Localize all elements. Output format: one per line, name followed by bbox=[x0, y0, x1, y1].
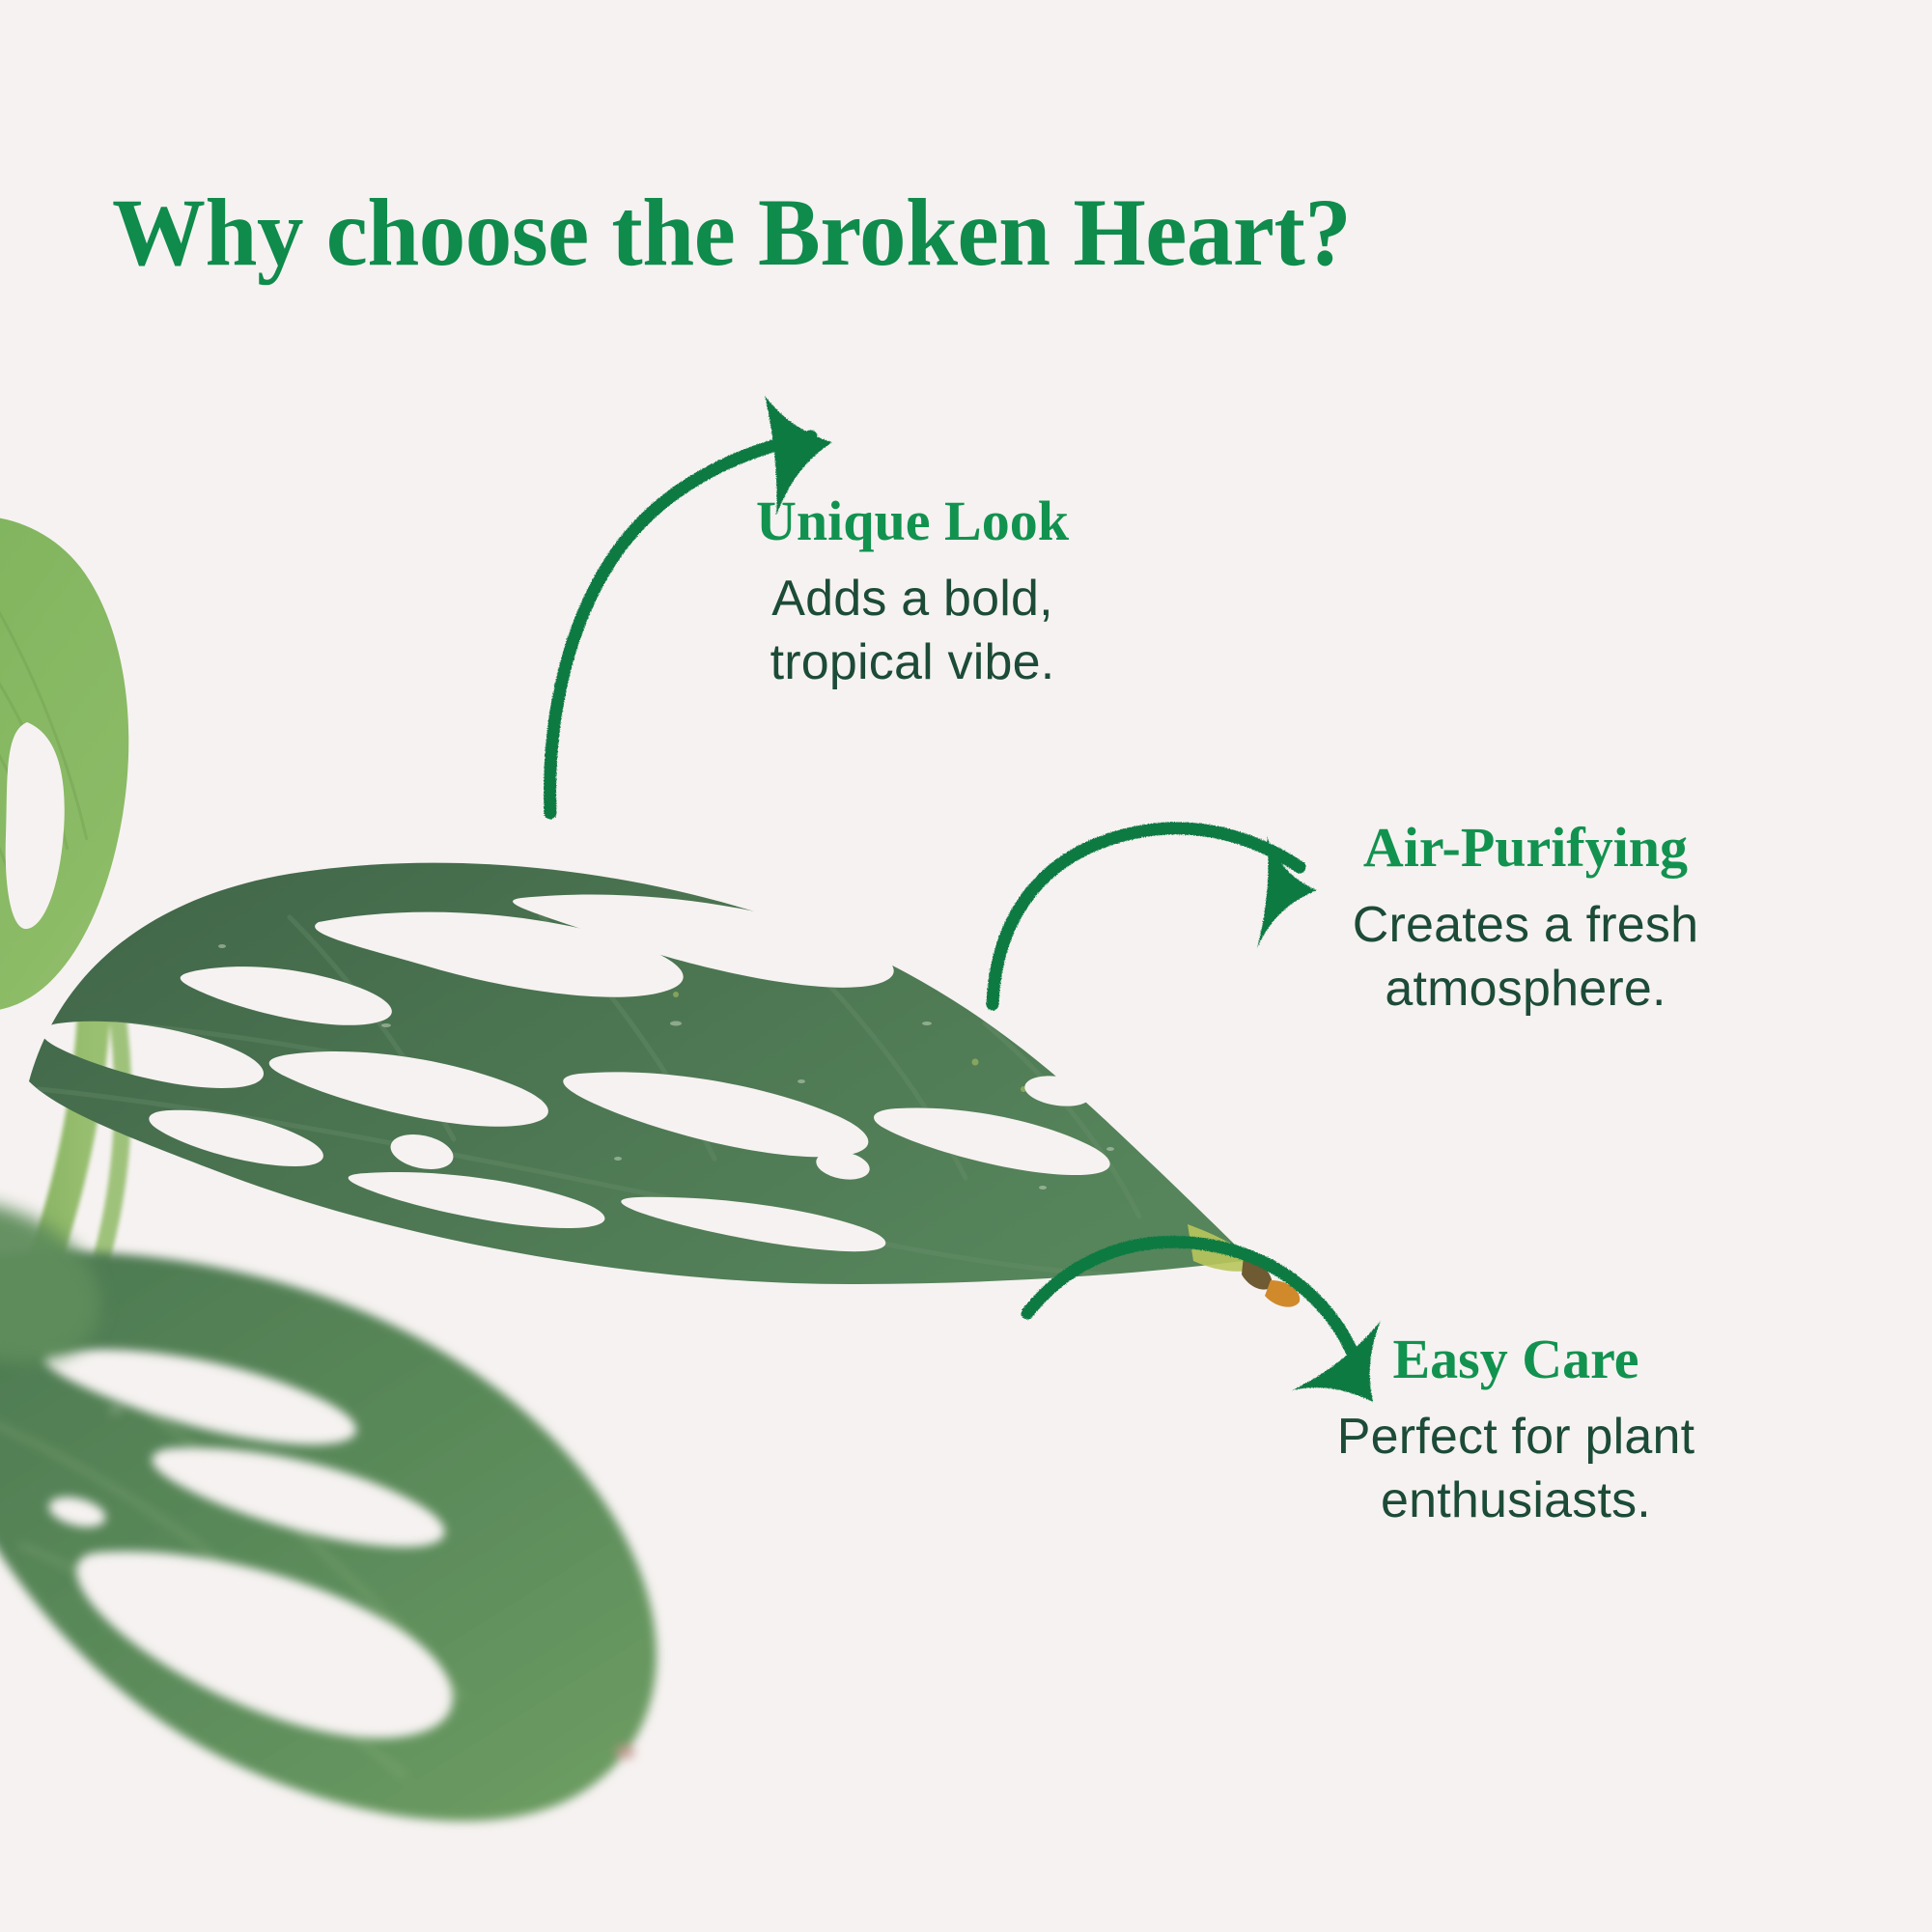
feature-air-purifying-description-line-1: Creates a fresh bbox=[1294, 893, 1757, 958]
feature-unique-look: Unique Look Adds a bold, tropical vibe. bbox=[710, 492, 1115, 695]
feature-unique-look-title: Unique Look bbox=[710, 492, 1115, 551]
plant-stem bbox=[0, 994, 123, 1371]
infographic-canvas: Why choose the Broken Heart? Unique Look… bbox=[0, 0, 1932, 1932]
leaf-tip-node bbox=[1188, 1224, 1300, 1307]
feature-easy-care: Easy Care Perfect for plant enthusiasts. bbox=[1279, 1330, 1752, 1533]
upper-left-leaf bbox=[0, 483, 290, 1043]
feature-easy-care-title: Easy Care bbox=[1279, 1330, 1752, 1389]
feature-unique-look-description-line-1: Adds a bold, bbox=[710, 567, 1115, 631]
feature-air-purifying-description: Creates a fresh atmosphere. bbox=[1294, 893, 1757, 1022]
main-monstera-leaf bbox=[0, 830, 1294, 1313]
page-title: Why choose the Broken Heart? bbox=[112, 180, 1760, 286]
feature-easy-care-description-line-1: Perfect for plant bbox=[1279, 1405, 1752, 1470]
foreground-leaf-blur bbox=[0, 1197, 100, 1363]
arrow-to-air-purifying bbox=[993, 828, 1317, 1004]
feature-unique-look-description-line-2: tropical vibe. bbox=[710, 630, 1115, 695]
feature-air-purifying-description-line-2: atmosphere. bbox=[1294, 957, 1757, 1022]
feature-easy-care-description-line-2: enthusiasts. bbox=[1279, 1469, 1752, 1533]
lower-left-leaf bbox=[0, 1217, 695, 1854]
feature-easy-care-description: Perfect for plant enthusiasts. bbox=[1279, 1405, 1752, 1533]
feature-air-purifying-title: Air-Purifying bbox=[1294, 819, 1757, 878]
feature-air-purifying: Air-Purifying Creates a fresh atmosphere… bbox=[1294, 819, 1757, 1022]
feature-unique-look-description: Adds a bold, tropical vibe. bbox=[710, 567, 1115, 695]
